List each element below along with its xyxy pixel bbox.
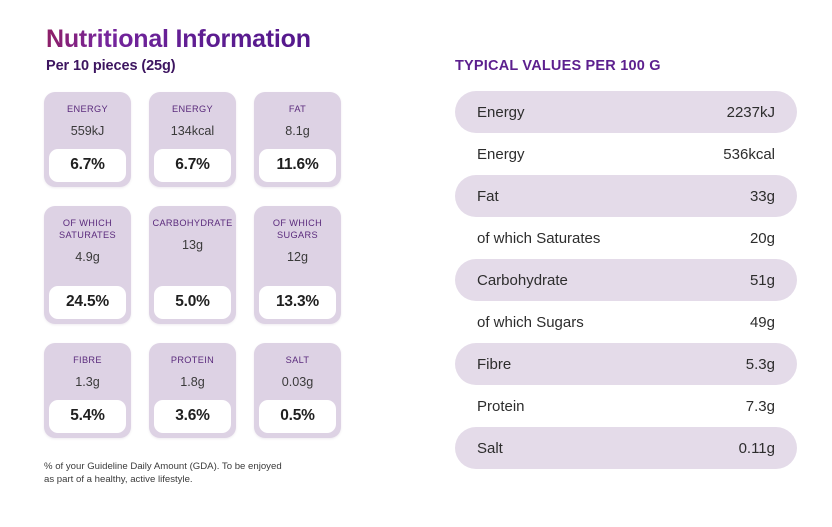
table-row: Fat33g [455,175,797,217]
table-row-value: 49g [750,314,775,331]
table-row: Energy2237kJ [455,91,797,133]
nutrient-card-amount: 12g [287,250,308,264]
nutrient-card: CARBOHYDRATE13g5.0% [149,206,236,324]
nutrition-panel: Nutritional Information Per 10 pieces (2… [0,0,832,527]
nutrient-card-label: OF WHICH SATURATES [49,217,126,241]
nutrient-card-percent: 3.6% [154,400,231,433]
table-row-value: 5.3g [746,356,775,373]
table-row-value: 7.3g [746,398,775,415]
nutrient-card-label: FIBRE [73,354,102,366]
nutrient-card: OF WHICH SATURATES4.9g24.5% [44,206,131,324]
typical-values-table: Energy2237kJEnergy536kcalFat33gof which … [455,91,797,469]
table-row-value: 2237kJ [727,104,775,121]
nutrient-card-amount: 134kcal [171,124,214,138]
nutrient-card: PROTEIN1.8g3.6% [149,343,236,438]
nutrient-card-grid: ENERGY559kJ6.7%ENERGY134kcal6.7%FAT8.1g1… [44,92,364,438]
nutrient-card-label: CARBOHYDRATE [152,217,232,229]
nutrient-card-label: SALT [286,354,310,366]
nutrient-card-percent: 0.5% [259,400,336,433]
nutrient-card-amount: 4.9g [75,250,100,264]
nutrient-card-label: ENERGY [172,103,213,115]
table-row: of which Sugars49g [455,301,797,343]
table-row: Salt0.11g [455,427,797,469]
table-row-name: Energy [477,146,525,163]
nutrient-card: ENERGY134kcal6.7% [149,92,236,187]
nutrient-card-amount: 0.03g [282,375,314,389]
table-row-value: 51g [750,272,775,289]
serving-subtitle: Per 10 pieces (25g) [46,58,364,74]
nutrient-card: OF WHICH SUGARS12g13.3% [254,206,341,324]
table-row-name: of which Saturates [477,230,600,247]
nutrient-card: SALT0.03g0.5% [254,343,341,438]
nutrient-card-label: OF WHICH SUGARS [259,217,336,241]
gda-footnote: % of your Guideline Daily Amount (GDA). … [44,461,282,486]
nutrient-card: ENERGY559kJ6.7% [44,92,131,187]
nutrient-card-amount: 559kJ [71,124,105,138]
nutrient-card-percent: 11.6% [259,149,336,182]
nutrient-card-label: PROTEIN [171,354,214,366]
table-row-name: Energy [477,104,525,121]
nutrient-card-percent: 13.3% [259,286,336,319]
typical-values-section: TYPICAL VALUES PER 100 G Energy2237kJEne… [455,58,797,469]
nutrient-card: FAT8.1g11.6% [254,92,341,187]
table-row-name: Fat [477,188,499,205]
table-row-name: Carbohydrate [477,272,568,289]
table-row: of which Saturates20g [455,217,797,259]
table-row: Carbohydrate51g [455,259,797,301]
nutrient-card-amount: 1.8g [180,375,205,389]
nutrient-card-label: ENERGY [67,103,108,115]
nutrient-card-percent: 24.5% [49,286,126,319]
table-row: Fibre5.3g [455,343,797,385]
nutrient-card-amount: 1.3g [75,375,100,389]
nutrient-card-label: FAT [289,103,306,115]
nutrient-card-percent: 6.7% [49,149,126,182]
table-row-value: 0.11g [739,440,775,457]
nutrient-card-percent: 5.0% [154,286,231,319]
table-row-name: Fibre [477,356,511,373]
nutrient-card-amount: 13g [182,238,203,252]
typical-values-title: TYPICAL VALUES PER 100 G [455,58,797,74]
nutrient-card-percent: 5.4% [49,400,126,433]
table-row-value: 33g [750,188,775,205]
per-serving-section: Per 10 pieces (25g) ENERGY559kJ6.7%ENERG… [44,58,364,486]
table-row-value: 20g [750,230,775,247]
table-row: Energy536kcal [455,133,797,175]
table-row-name: of which Sugars [477,314,584,331]
table-row-name: Protein [477,398,525,415]
table-row: Protein7.3g [455,385,797,427]
table-row-value: 536kcal [723,146,775,163]
nutrient-card-percent: 6.7% [154,149,231,182]
page-title: Nutritional Information [46,25,311,54]
table-row-name: Salt [477,440,503,457]
nutrient-card: FIBRE1.3g5.4% [44,343,131,438]
nutrient-card-amount: 8.1g [285,124,310,138]
